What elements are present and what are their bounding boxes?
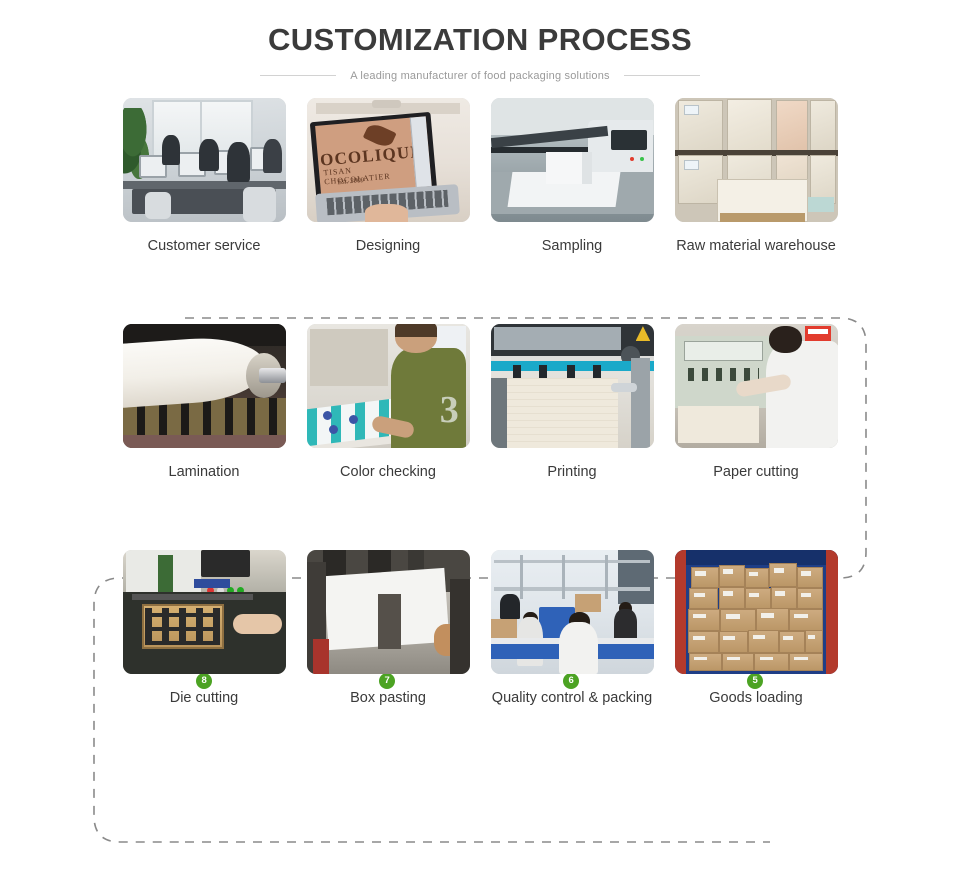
die-cutting-press-photo: [123, 550, 286, 674]
step-label: Paper cutting: [664, 462, 848, 482]
process-row-1: Customer service OCOLIQUE TISAN CHOCOLAT…: [0, 98, 960, 256]
step-label: Die cutting: [112, 688, 296, 708]
step-label: Box pasting: [296, 688, 480, 708]
sample-cutting-plotter-photo: [491, 98, 654, 222]
process-step-printing[interactable]: Printing: [480, 324, 664, 482]
laptop-package-design-photo: OCOLIQUE TISAN CHOCOLATIER Est. 2009: [307, 98, 470, 222]
process-step-goods-loading[interactable]: Goods loading: [664, 550, 848, 708]
offset-printing-press-photo: [491, 324, 654, 448]
box-folder-gluer-photo: [307, 550, 470, 674]
step-label: Designing: [296, 236, 480, 256]
page-title: CUSTOMIZATION PROCESS: [0, 22, 960, 58]
step-label: Goods loading: [664, 688, 848, 708]
page-subtitle: A leading manufacturer of food packaging…: [350, 70, 610, 82]
process-step-quality-control-packing[interactable]: Quality control & packing: [480, 550, 664, 708]
loaded-truck-boxes-photo: [675, 550, 838, 674]
process-row-3: Die cutting Box pasting: [0, 550, 960, 708]
process-step-die-cutting[interactable]: Die cutting: [112, 550, 296, 708]
process-step-sampling[interactable]: Sampling: [480, 98, 664, 256]
step-label: Quality control & packing: [480, 688, 664, 708]
step-label: Raw material warehouse: [664, 236, 848, 256]
process-step-box-pasting[interactable]: Box pasting: [296, 550, 480, 708]
process-step-paper-cutting[interactable]: Paper cutting: [664, 324, 848, 482]
lamination-film-roll-photo: [123, 324, 286, 448]
process-step-customer-service[interactable]: Customer service: [112, 98, 296, 256]
process-step-lamination[interactable]: Lamination: [112, 324, 296, 482]
paper-guillotine-worker-photo: [675, 324, 838, 448]
process-step-color-checking[interactable]: 3 Color checking: [296, 324, 480, 482]
step-label: Color checking: [296, 462, 480, 482]
qc-packing-workshop-photo: [491, 550, 654, 674]
process-row-2: Lamination 3 Color checking: [0, 324, 960, 482]
customization-process-infographic: CUSTOMIZATION PROCESS A leading manufact…: [0, 0, 960, 888]
process-grid: Customer service OCOLIQUE TISAN CHOCOLAT…: [0, 98, 960, 708]
color-inspection-worker-photo: 3: [307, 324, 470, 448]
process-step-raw-material-warehouse[interactable]: Raw material warehouse: [664, 98, 848, 256]
paper-pallet-warehouse-photo: [675, 98, 838, 222]
subtitle-rule-left: [260, 75, 336, 76]
subtitle-rule-right: [624, 75, 700, 76]
page-header: CUSTOMIZATION PROCESS A leading manufact…: [0, 0, 960, 82]
step-label: Lamination: [112, 462, 296, 482]
step-label: Printing: [480, 462, 664, 482]
step-label: Sampling: [480, 236, 664, 256]
process-step-designing[interactable]: OCOLIQUE TISAN CHOCOLATIER Est. 2009 Des…: [296, 98, 480, 256]
office-workstations-photo: [123, 98, 286, 222]
subtitle-row: A leading manufacturer of food packaging…: [0, 70, 960, 82]
step-label: Customer service: [112, 236, 296, 256]
